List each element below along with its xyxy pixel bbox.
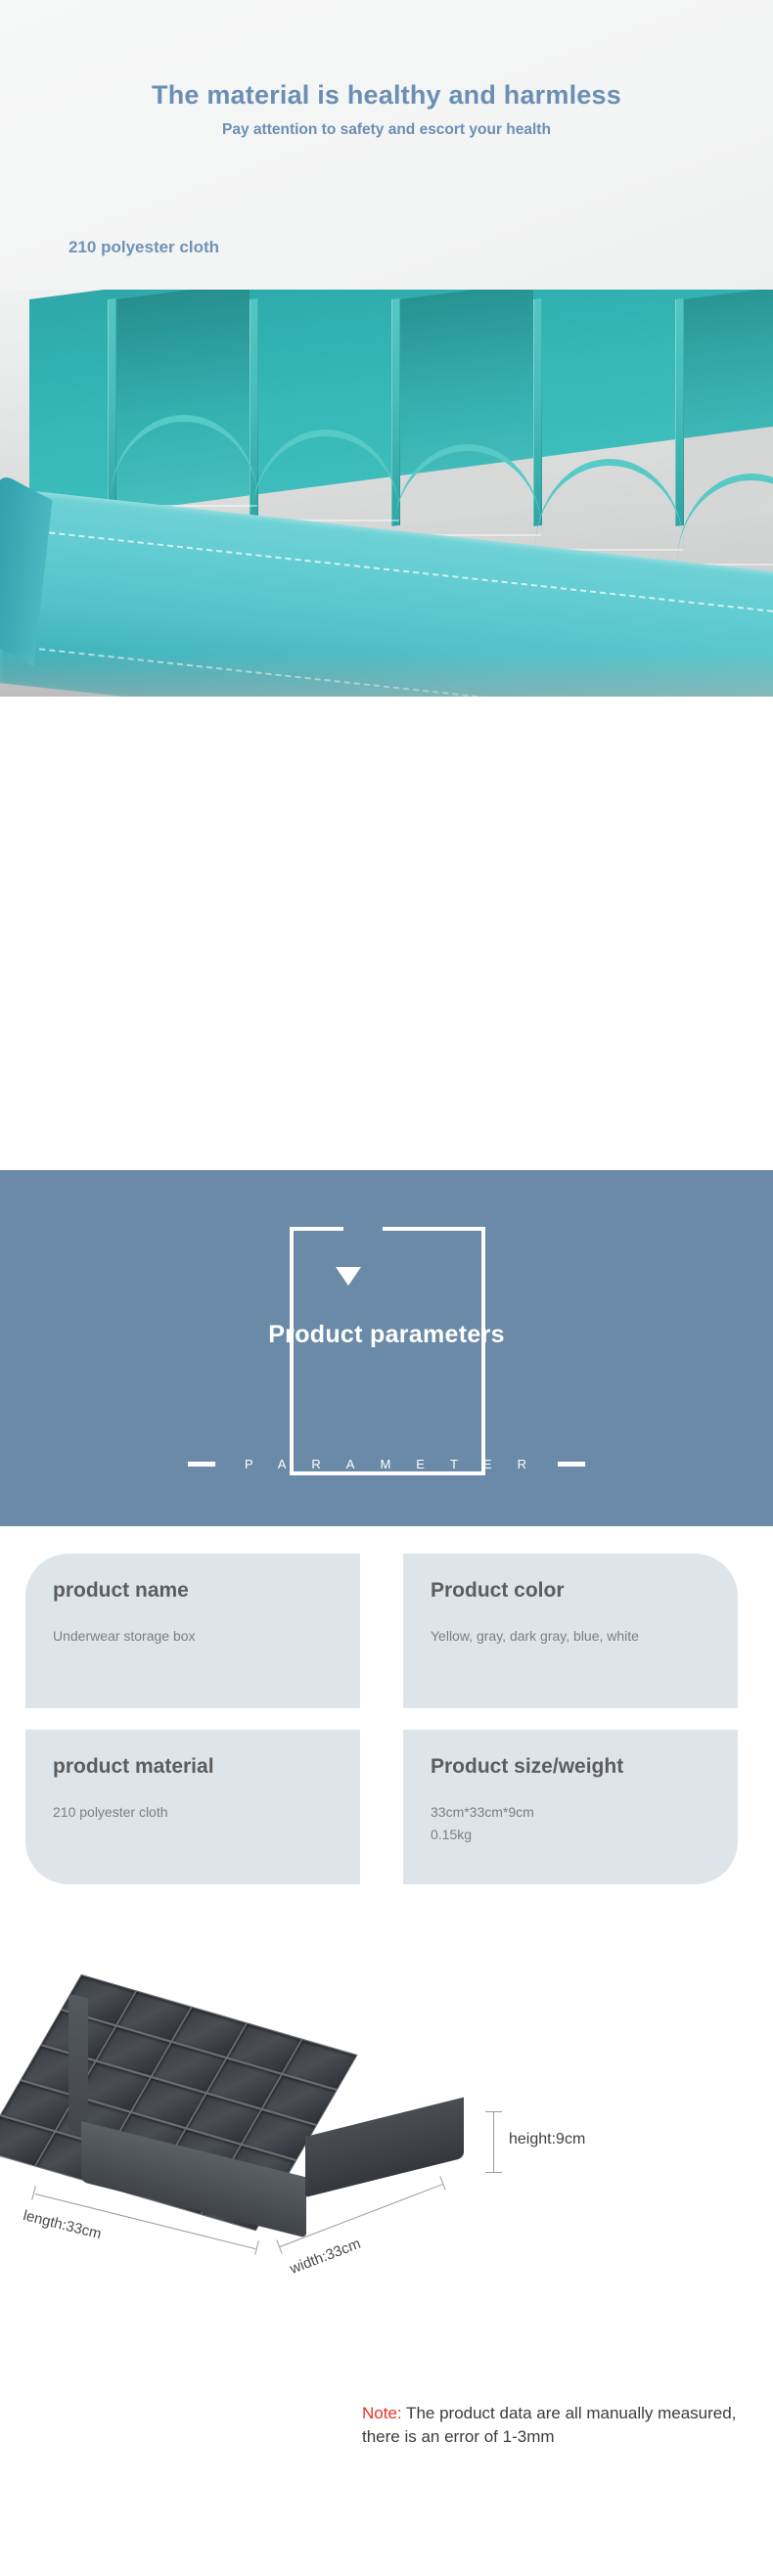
banner-spaced-label: PARAMETER xyxy=(215,1457,558,1471)
dimension-diagram: length:33cm width:33cm height:9cm xyxy=(0,1947,773,2407)
height-label: height:9cm xyxy=(509,2131,585,2148)
measurement-note: Note: The product data are all manually … xyxy=(362,2402,753,2449)
card-value: 33cm*33cm*9cm0.15kg xyxy=(431,1801,712,1846)
card-value: 210 polyester cloth xyxy=(53,1801,335,1824)
card-value: Underwear storage box xyxy=(53,1625,335,1648)
note-body: The product data are all manually measur… xyxy=(362,2404,736,2446)
banner-frame-outline xyxy=(290,1227,485,1475)
banner-frame-top-left xyxy=(290,1227,343,1231)
hero-headline: The material is healthy and harmless xyxy=(0,80,773,111)
gray-organizer-illustration xyxy=(27,1974,487,2258)
photo-bottom-fade xyxy=(0,652,773,697)
banner-spaced-label-row: PARAMETER xyxy=(0,1457,773,1471)
material-tag: 210 polyester cloth xyxy=(68,238,219,257)
height-measure-line xyxy=(493,2111,494,2172)
parameter-card: product name Underwear storage box xyxy=(25,1554,360,1708)
parameter-card: Product size/weight 33cm*33cm*9cm0.15kg xyxy=(403,1730,738,1884)
scalloped-edge xyxy=(535,459,684,549)
card-value: Yellow, gray, dark gray, blue, white xyxy=(431,1625,712,1648)
dash-left-icon xyxy=(188,1462,215,1467)
card-title: Product size/weight xyxy=(431,1755,712,1778)
height-measure-cap xyxy=(485,2172,502,2173)
teal-organizer-illustration xyxy=(0,299,773,697)
hero-section: The material is healthy and harmless Pay… xyxy=(0,0,773,697)
note-prefix: Note: xyxy=(362,2404,402,2422)
hero-subtitle: Pay attention to safety and escort your … xyxy=(0,121,773,139)
banner-title: Product parameters xyxy=(0,1321,773,1349)
divider-rib xyxy=(533,298,542,526)
product-photo-teal xyxy=(0,290,773,697)
card-title: product material xyxy=(53,1755,335,1778)
dash-right-icon xyxy=(558,1462,585,1467)
divider-rib xyxy=(675,298,684,526)
parameter-cards: product name Underwear storage box Produ… xyxy=(0,1554,773,1918)
height-measure-cap xyxy=(485,2111,502,2112)
parameter-card: Product color Yellow, gray, dark gray, b… xyxy=(403,1554,738,1708)
organizer-side-face xyxy=(305,2098,464,2197)
triangle-down-icon xyxy=(336,1267,361,1286)
card-title: Product color xyxy=(431,1579,712,1602)
parameter-card: product material 210 polyester cloth xyxy=(25,1730,360,1884)
card-title: product name xyxy=(53,1579,335,1602)
banner-frame-top-right xyxy=(383,1227,485,1231)
organizer-left-wall xyxy=(68,1994,88,2136)
